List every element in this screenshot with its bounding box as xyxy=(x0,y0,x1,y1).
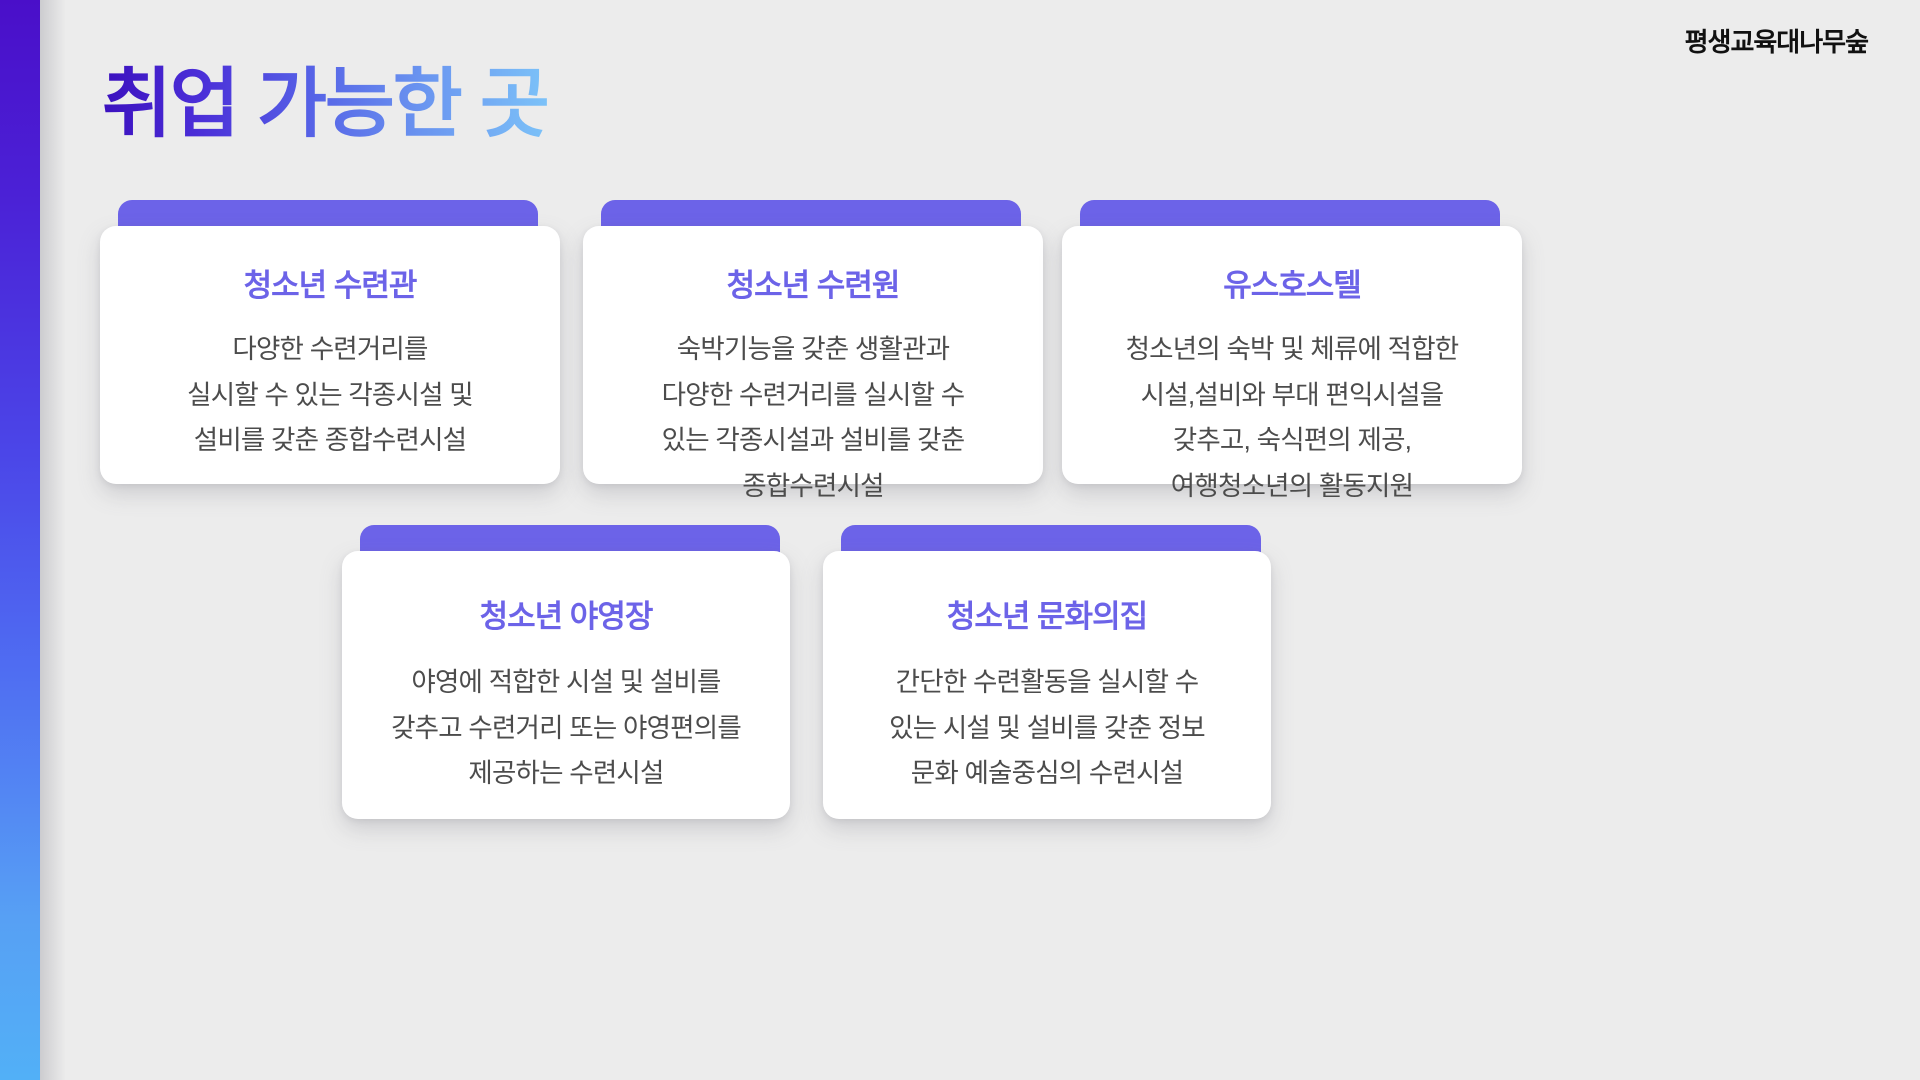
card-desc-line: 문화 예술중심의 수련시설 xyxy=(889,751,1205,797)
card-body: 청소년 야영장 야영에 적합한 시설 및 설비를 갖추고 수련거리 또는 야영편… xyxy=(342,551,790,819)
card-body: 유스호스텔 청소년의 숙박 및 체류에 적합한 시설,설비와 부대 편익시설을 … xyxy=(1062,226,1522,484)
card-desc-line: 시설,설비와 부대 편익시설을 xyxy=(1126,373,1459,419)
card-desc-line: 다양한 수련거리를 xyxy=(187,327,473,373)
card-desc-line: 야영에 적합한 시설 및 설비를 xyxy=(391,660,741,706)
page-title: 취업 가능한 곳 xyxy=(102,42,548,152)
card-desc-line: 다양한 수련거리를 실시할 수 xyxy=(662,373,965,419)
card-description: 청소년의 숙박 및 체류에 적합한 시설,설비와 부대 편익시설을 갖추고, 숙… xyxy=(1126,327,1459,509)
card-description: 다양한 수련거리를 실시할 수 있는 각종시설 및 설비를 갖춘 종합수련시설 xyxy=(187,327,473,464)
card-description: 간단한 수련활동을 실시할 수 있는 시설 및 설비를 갖춘 정보 문화 예술중… xyxy=(889,660,1205,797)
accent-bar-shadow xyxy=(40,0,66,1080)
card-desc-line: 여행청소년의 활동지원 xyxy=(1126,464,1459,510)
brand-label: 평생교육대나무숲 xyxy=(1685,22,1868,59)
card-title: 유스호스텔 xyxy=(1223,260,1361,305)
card-desc-line: 종합수련시설 xyxy=(662,464,965,510)
card-desc-line: 갖추고 수련거리 또는 야영편의를 xyxy=(391,706,741,752)
card-desc-line: 설비를 갖춘 종합수련시설 xyxy=(187,418,473,464)
card-title: 청소년 야영장 xyxy=(480,591,653,636)
card-desc-line: 갖추고, 숙식편의 제공, xyxy=(1126,418,1459,464)
card-body: 청소년 문화의집 간단한 수련활동을 실시할 수 있는 시설 및 설비를 갖춘 … xyxy=(823,551,1271,819)
card-title: 청소년 문화의집 xyxy=(947,591,1147,636)
card-desc-line: 간단한 수련활동을 실시할 수 xyxy=(889,660,1205,706)
card-body: 청소년 수련원 숙박기능을 갖춘 생활관과 다양한 수련거리를 실시할 수 있는… xyxy=(583,226,1043,484)
accent-bar xyxy=(0,0,40,1080)
card-desc-line: 실시할 수 있는 각종시설 및 xyxy=(187,373,473,419)
card-desc-line: 있는 각종시설과 설비를 갖춘 xyxy=(662,418,965,464)
card-desc-line: 숙박기능을 갖춘 생활관과 xyxy=(662,327,965,373)
card-title: 청소년 수련원 xyxy=(727,260,900,305)
card-description: 숙박기능을 갖춘 생활관과 다양한 수련거리를 실시할 수 있는 각종시설과 설… xyxy=(662,327,965,509)
card-desc-line: 제공하는 수련시설 xyxy=(391,751,741,797)
card-desc-line: 있는 시설 및 설비를 갖춘 정보 xyxy=(889,706,1205,752)
card-description: 야영에 적합한 시설 및 설비를 갖추고 수련거리 또는 야영편의를 제공하는 … xyxy=(391,660,741,797)
card-body: 청소년 수련관 다양한 수련거리를 실시할 수 있는 각종시설 및 설비를 갖춘… xyxy=(100,226,560,484)
card-title: 청소년 수련관 xyxy=(244,260,417,305)
card-desc-line: 청소년의 숙박 및 체류에 적합한 xyxy=(1126,327,1459,373)
